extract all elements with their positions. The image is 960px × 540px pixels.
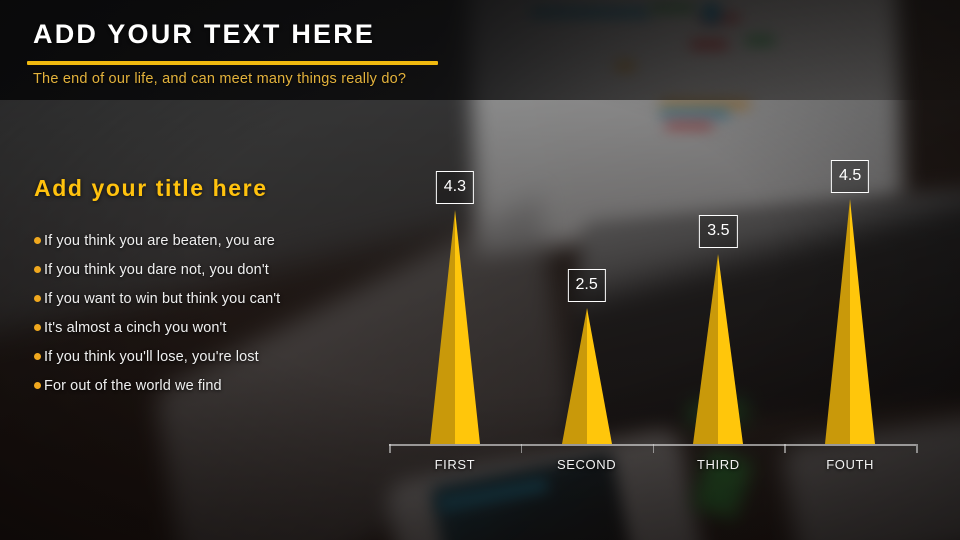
- list-item: If you think you are beaten, you are: [34, 233, 364, 262]
- list-item-label: It's almost a cinch you won't: [44, 320, 227, 336]
- chart-axis-tick: [653, 444, 655, 453]
- bullet-list: If you think you are beaten, you are If …: [34, 233, 364, 407]
- chart-bar-face-left: [693, 254, 718, 444]
- bullet-dot-icon: [34, 295, 41, 302]
- list-item: If you think you'll lose, you're lost: [34, 349, 364, 378]
- list-item: For out of the world we find: [34, 378, 364, 407]
- list-item-label: If you want to win but think you can't: [44, 291, 280, 307]
- chart-bar-face-left: [562, 308, 587, 444]
- chart-bar-face-left: [430, 210, 455, 444]
- chart-axis-tick: [521, 444, 523, 453]
- bullet-dot-icon: [34, 324, 41, 331]
- header-subtitle: The end of our life, and can meet many t…: [33, 71, 406, 87]
- section-title: Add your title here: [34, 175, 268, 202]
- background-phone-accent: [438, 478, 549, 513]
- chart-bar-face-right: [718, 254, 743, 444]
- list-item-label: For out of the world we find: [44, 378, 222, 394]
- chart-value-label: 4.5: [831, 160, 869, 193]
- header-divider: [27, 61, 438, 65]
- bullet-dot-icon: [34, 353, 41, 360]
- list-item: If you think you dare not, you don't: [34, 262, 364, 291]
- chart-category-label: SECOND: [521, 457, 653, 472]
- bullet-dot-icon: [34, 382, 41, 389]
- list-item: If you want to win but think you can't: [34, 291, 364, 320]
- chart-value-label: 4.3: [436, 171, 474, 204]
- chart-bar-cone: [430, 210, 480, 444]
- list-item-label: If you think you are beaten, you are: [44, 233, 275, 249]
- background-screen-accent: [665, 122, 713, 129]
- bullet-dot-icon: [34, 237, 41, 244]
- list-item-label: If you think you'll lose, you're lost: [44, 349, 259, 365]
- chart-category-label: FIRST: [389, 457, 521, 472]
- chart-bar-face-right: [455, 210, 480, 444]
- chart-bar-face-right: [587, 308, 612, 444]
- background-screen-accent: [660, 110, 730, 117]
- chart-category-label: THIRD: [653, 457, 785, 472]
- chart-value-label: 2.5: [568, 269, 606, 302]
- chart-bar-cone: [825, 199, 875, 444]
- page-title: ADD YOUR TEXT HERE: [33, 19, 375, 50]
- chart-category-label: FOUTH: [784, 457, 916, 472]
- background-screen-accent: [660, 100, 750, 108]
- chart-bar-cone: [693, 254, 743, 444]
- chart-value-label: 3.5: [699, 215, 737, 248]
- chart-axis-tick: [784, 444, 786, 453]
- list-item: It's almost a cinch you won't: [34, 320, 364, 349]
- bullet-dot-icon: [34, 266, 41, 273]
- cone-bar-chart: 4.32.53.54.5 FIRSTSECONDTHIRDFOUTH: [385, 130, 920, 480]
- chart-axis-tick: [389, 444, 391, 453]
- chart-axis-tick: [916, 444, 918, 453]
- chart-bar-face-left: [825, 199, 850, 444]
- chart-bar-cone: [562, 308, 612, 444]
- slide-canvas: ADD YOUR TEXT HERE The end of our life, …: [0, 0, 960, 540]
- list-item-label: If you think you dare not, you don't: [44, 262, 269, 278]
- chart-bar-face-right: [850, 199, 875, 444]
